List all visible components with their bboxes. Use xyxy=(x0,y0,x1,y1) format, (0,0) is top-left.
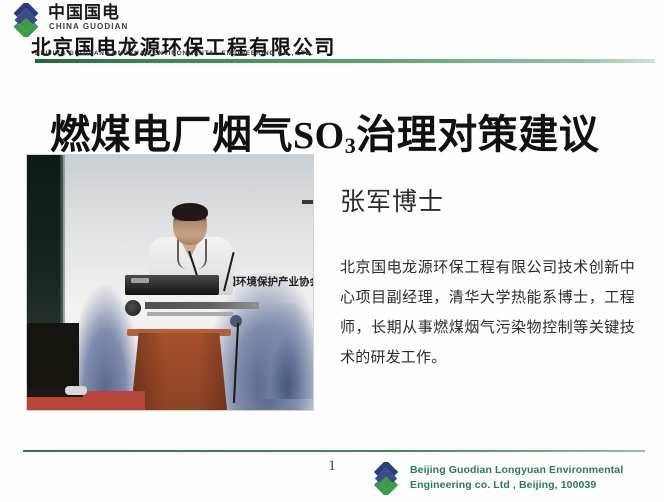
speaker-biography: 北京国电龙源环保工程有限公司技术创新中心项目副经理，清华大学热能系博士，工程师，… xyxy=(340,253,635,373)
photo-screen-edge xyxy=(60,155,65,323)
photo-backdrop-bar xyxy=(302,200,313,204)
photo-laptop-keys xyxy=(131,278,149,283)
brand-name-en: CHINA GUODIAN xyxy=(49,22,128,31)
title-formula: SO3 xyxy=(293,115,356,157)
footer-line-2: Engineering co. Ltd , Beijing, 100039 xyxy=(410,478,660,493)
brand-name-cn: 中国国电 xyxy=(48,3,120,22)
photo-banner-emblem xyxy=(125,300,141,316)
speaker-photo: 中国环境保护产业协会 xyxy=(27,155,313,410)
photo-backdrop-mountain-far xyxy=(259,303,313,399)
footer-divider xyxy=(23,450,645,452)
footer-guodian-logo-icon xyxy=(368,462,404,495)
slide-header: 中国国电 CHINA GUODIAN 北京国电龙源环保工程有限公司 BEIJIN… xyxy=(0,0,664,66)
footer-line-1: Beijing Guodian Longyuan Environmental xyxy=(410,463,660,478)
speaker-name: 张军博士 xyxy=(340,182,444,218)
title-formula-main: SO xyxy=(293,115,345,157)
photo-shoe xyxy=(65,386,87,395)
slide-number: 1 xyxy=(322,458,342,475)
title-formula-subscript: 3 xyxy=(345,133,357,158)
company-name-en: BEIJING GUODIAN LONGYUAN ENVIRONMENTAL E… xyxy=(35,50,314,57)
photo-speaker-hair xyxy=(172,203,208,221)
header-divider xyxy=(35,59,655,63)
photo-banner-subline xyxy=(147,312,233,316)
title-part-1: 燃煤电厂烟气 xyxy=(50,113,293,157)
photo-projection-screen xyxy=(27,155,63,323)
footer-company-address: Beijing Guodian Longyuan Environmental E… xyxy=(410,463,660,493)
title-part-2: 治理对策建议 xyxy=(356,113,599,157)
photo-banner-headline xyxy=(145,302,259,309)
photo-podium-shading xyxy=(131,333,227,410)
